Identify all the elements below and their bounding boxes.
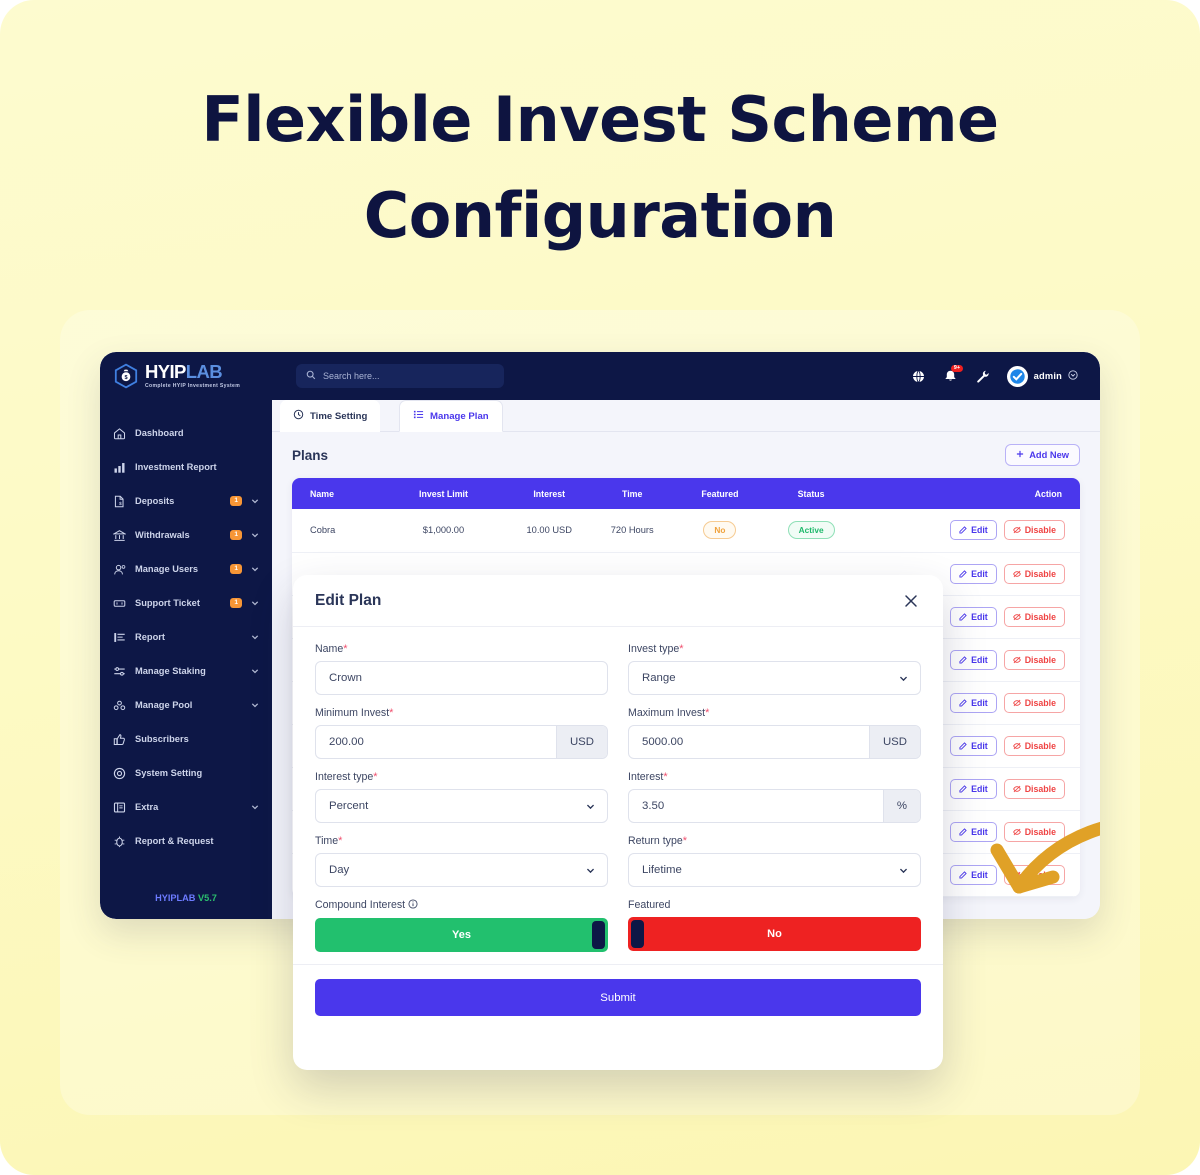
- edit-label: Edit: [971, 569, 988, 579]
- field-interest: Interest* 3.50 %: [628, 771, 921, 823]
- invest-type-select[interactable]: Range: [628, 661, 921, 695]
- sidebar-badge: 1: [230, 598, 242, 609]
- pencil-icon: [959, 828, 967, 836]
- field-label-text: Interest type: [315, 771, 373, 783]
- tab-label: Manage Plan: [430, 411, 489, 422]
- form-row-1: Name* Crown Invest type* Range: [315, 643, 921, 695]
- required-marker: *: [705, 707, 709, 719]
- sidebar-item-label: Report: [135, 632, 242, 642]
- field-label-text: Compound Interest: [315, 899, 405, 911]
- compound-interest-toggle[interactable]: Yes: [315, 918, 608, 952]
- edit-label: Edit: [971, 870, 988, 880]
- col-interest: Interest: [504, 478, 595, 509]
- required-marker: *: [683, 835, 687, 847]
- admin-name: admin: [1034, 371, 1062, 381]
- sidebar-item-label: Support Ticket: [135, 598, 221, 608]
- sliders-icon: [113, 665, 126, 678]
- disable-label: Disable: [1025, 525, 1056, 535]
- pencil-icon: [959, 742, 967, 750]
- invest-type-value: Range: [629, 672, 887, 684]
- sidebar-item-investment-report[interactable]: Investment Report: [100, 450, 272, 484]
- tab-bar: Time Setting Manage Plan: [272, 400, 1100, 432]
- eye-slash-icon: [1013, 828, 1021, 836]
- chevron-down-icon: [574, 802, 607, 811]
- col-name: Name: [292, 478, 383, 509]
- edit-button[interactable]: Edit: [950, 564, 997, 584]
- disable-label: Disable: [1025, 741, 1056, 751]
- required-marker: *: [373, 771, 377, 783]
- disable-label: Disable: [1025, 870, 1056, 880]
- chevron-down-icon: [887, 866, 920, 875]
- required-marker: *: [389, 707, 393, 719]
- sidebar-item-withdrawals[interactable]: Withdrawals 1: [100, 518, 272, 552]
- sidebar-version: HYIPLAB V5.7: [100, 893, 272, 903]
- field-featured: Featured No: [628, 899, 921, 952]
- add-new-button[interactable]: Add New: [1005, 444, 1080, 466]
- field-label: Time*: [315, 835, 608, 847]
- sidebar-item-label: Report & Request: [135, 836, 259, 846]
- edit-label: Edit: [971, 612, 988, 622]
- sidebar-item-support-ticket[interactable]: Support Ticket 1: [100, 586, 272, 620]
- sidebar-item-manage-users[interactable]: Manage Users 1: [100, 552, 272, 586]
- sidebar-item-report-and-request[interactable]: Report & Request: [100, 824, 272, 858]
- featured-toggle[interactable]: No: [628, 917, 921, 951]
- time-value: Day: [316, 864, 574, 876]
- edit-button[interactable]: Edit: [950, 520, 997, 540]
- chevron-down-icon: [251, 565, 259, 573]
- page-title-line-1: Flexible Invest Scheme: [201, 83, 998, 156]
- disable-button[interactable]: Disable: [1004, 693, 1065, 713]
- tab-time-setting[interactable]: Time Setting: [280, 400, 380, 432]
- cell-time: 720 Hours: [595, 509, 670, 552]
- field-label-text: Featured: [628, 899, 670, 911]
- minimum-invest-unit: USD: [556, 726, 607, 758]
- list-icon: [413, 409, 424, 423]
- sidebar-item-label: Manage Pool: [135, 700, 242, 710]
- edit-button[interactable]: Edit: [950, 693, 997, 713]
- file-dollar-icon: $: [113, 495, 126, 508]
- edit-button[interactable]: Edit: [950, 650, 997, 670]
- disable-label: Disable: [1025, 827, 1056, 837]
- wrench-icon[interactable]: [975, 369, 990, 384]
- modal-footer: Submit: [293, 964, 943, 1036]
- return-type-value: Lifetime: [629, 864, 887, 876]
- row-actions: EditDisable: [950, 822, 1065, 842]
- tab-manage-plan[interactable]: Manage Plan: [399, 400, 503, 432]
- toggle-knob: [631, 920, 644, 948]
- home-icon: [113, 427, 126, 440]
- field-interest-type: Interest type* Percent: [315, 771, 608, 823]
- section-header: Plans Add New: [272, 432, 1100, 478]
- field-label-text: Maximum Invest: [628, 707, 705, 719]
- field-name: Name* Crown: [315, 643, 608, 695]
- topbar-icons: 9+ admin: [911, 366, 1078, 387]
- sidebar-item-label: Manage Staking: [135, 666, 242, 676]
- search-icon: [306, 370, 316, 382]
- field-label: Featured: [628, 899, 921, 911]
- required-marker: *: [663, 771, 667, 783]
- sidebar-item-report[interactable]: Report: [100, 620, 272, 654]
- topbar: Search here... 9+ admin: [272, 352, 1100, 400]
- field-label: Minimum Invest*: [315, 707, 608, 719]
- form-row-3: Interest type* Percent Interest* 3.50 %: [315, 771, 921, 823]
- col-invest-limit: Invest Limit: [383, 478, 504, 509]
- close-icon[interactable]: [901, 591, 921, 611]
- edit-label: Edit: [971, 655, 988, 665]
- disable-button[interactable]: Disable: [1004, 822, 1065, 842]
- version-name: HYIPLAB: [155, 893, 195, 903]
- form-row-4: Time* Day Return type* Lifetime: [315, 835, 921, 887]
- sidebar-item-label: Deposits: [135, 496, 221, 506]
- bug-icon: [113, 835, 126, 848]
- chevron-down-icon: [887, 674, 920, 683]
- minimum-invest-value: 200.00: [316, 736, 556, 748]
- sidebar-item-label: Withdrawals: [135, 530, 221, 540]
- sidebar-badge: 1: [230, 530, 242, 541]
- eye-slash-icon: [1013, 570, 1021, 578]
- pencil-icon: [959, 699, 967, 707]
- featured-value: No: [767, 928, 782, 940]
- eye-slash-icon: [1013, 785, 1021, 793]
- globe-icon[interactable]: [911, 369, 926, 384]
- disable-button[interactable]: Disable: [1004, 607, 1065, 627]
- disable-button[interactable]: Disable: [1004, 779, 1065, 799]
- clock-icon: [293, 409, 304, 423]
- field-label: Return type*: [628, 835, 921, 847]
- list-check-icon: [113, 631, 126, 644]
- edit-label: Edit: [971, 784, 988, 794]
- field-label-text: Interest: [628, 771, 663, 783]
- row-actions: EditDisable: [950, 736, 1065, 756]
- sidebar-item-manage-staking[interactable]: Manage Staking: [100, 654, 272, 688]
- book-icon: [113, 801, 126, 814]
- pencil-icon: [959, 656, 967, 664]
- row-actions: EditDisable: [950, 779, 1065, 799]
- page-title: Flexible Invest Scheme Configuration: [0, 72, 1200, 264]
- field-time: Time* Day: [315, 835, 608, 887]
- sidebar: $ HYIPLAB Complete HYIP Investment Syste…: [100, 352, 272, 919]
- featured-badge: No: [703, 521, 736, 539]
- name-input-value: Crown: [316, 672, 607, 684]
- table-row: Cobra$1,000.0010.00 USD720 HoursNoActive…: [292, 509, 1080, 552]
- add-new-label: Add New: [1029, 450, 1069, 460]
- col-action: Action: [852, 478, 1080, 509]
- toggle-knob: [592, 921, 605, 949]
- eye-slash-icon: [1013, 871, 1021, 879]
- interest-input[interactable]: 3.50 %: [628, 789, 921, 823]
- svg-text:$: $: [119, 500, 122, 505]
- row-actions: EditDisable: [950, 564, 1065, 584]
- chevron-down-icon: [251, 667, 259, 675]
- check-circle-avatar-icon: [1007, 366, 1028, 387]
- field-label: Maximum Invest*: [628, 707, 921, 719]
- edit-plan-modal: Edit Plan Name* Crown Invest type* Range: [293, 575, 943, 1070]
- cell-interest: 10.00 USD: [504, 509, 595, 552]
- disable-button[interactable]: Disable: [1004, 564, 1065, 584]
- interest-unit: %: [883, 790, 920, 822]
- edit-button[interactable]: Edit: [950, 779, 997, 799]
- field-label: Name*: [315, 643, 608, 655]
- bell-icon[interactable]: 9+: [943, 369, 958, 384]
- col-status: Status: [770, 478, 852, 509]
- eye-slash-icon: [1013, 526, 1021, 534]
- pencil-icon: [959, 785, 967, 793]
- sidebar-item-label: Manage Users: [135, 564, 221, 574]
- tab-label: Time Setting: [310, 411, 367, 422]
- minimum-invest-input[interactable]: 200.00 USD: [315, 725, 608, 759]
- sidebar-item-label: System Setting: [135, 768, 259, 778]
- sidebar-item-manage-pool[interactable]: Manage Pool: [100, 688, 272, 722]
- section-title: Plans: [292, 448, 328, 463]
- bank-icon: [113, 529, 126, 542]
- interest-value: 3.50: [629, 800, 883, 812]
- sidebar-item-extra[interactable]: Extra: [100, 790, 272, 824]
- table-head: Name Invest Limit Interest Time Featured…: [292, 478, 1080, 509]
- bar-chart-icon: [113, 461, 126, 474]
- brand-word-2: LAB: [186, 361, 222, 382]
- sidebar-item-label: Extra: [135, 802, 242, 812]
- edit-label: Edit: [971, 525, 988, 535]
- edit-label: Edit: [971, 698, 988, 708]
- page-title-line-2: Configuration: [0, 168, 1200, 264]
- table-header-row: Name Invest Limit Interest Time Featured…: [292, 478, 1080, 509]
- eye-slash-icon: [1013, 742, 1021, 750]
- pencil-icon: [959, 526, 967, 534]
- row-actions: EditDisable: [950, 520, 1065, 540]
- pencil-icon: [959, 613, 967, 621]
- cell-action: EditDisable: [852, 509, 1080, 552]
- compound-interest-value: Yes: [452, 929, 471, 941]
- poster-background: Flexible Invest Scheme Configuration $ H…: [0, 0, 1200, 1175]
- disable-button[interactable]: Disable: [1004, 865, 1065, 885]
- sidebar-nav: Dashboard Investment Report $ Deposits 1: [100, 416, 272, 858]
- form-row-2: Minimum Invest* 200.00 USD Maximum Inves…: [315, 707, 921, 759]
- disable-label: Disable: [1025, 698, 1056, 708]
- field-invest-type: Invest type* Range: [628, 643, 921, 695]
- cell-featured: No: [670, 509, 770, 552]
- name-input[interactable]: Crown: [315, 661, 608, 695]
- disable-label: Disable: [1025, 612, 1056, 622]
- chevron-down-icon: [251, 497, 259, 505]
- disable-label: Disable: [1025, 784, 1056, 794]
- brand-logo[interactable]: $ HYIPLAB Complete HYIP Investment Syste…: [100, 352, 272, 400]
- chevron-down-circle-icon: [1068, 367, 1078, 385]
- required-marker: *: [343, 643, 347, 655]
- submit-button[interactable]: Submit: [315, 979, 921, 1016]
- users-gear-icon: [113, 563, 126, 576]
- sidebar-item-label: Subscribers: [135, 734, 259, 744]
- notification-badge: 9+: [951, 365, 962, 373]
- disable-label: Disable: [1025, 569, 1056, 579]
- disable-button[interactable]: Disable: [1004, 650, 1065, 670]
- disable-button[interactable]: Disable: [1004, 736, 1065, 756]
- version-number: V5.7: [198, 893, 217, 903]
- edit-button[interactable]: Edit: [950, 822, 997, 842]
- modal-title: Edit Plan: [315, 592, 381, 610]
- status-badge: Active: [788, 521, 835, 539]
- edit-label: Edit: [971, 827, 988, 837]
- thumbs-up-icon: [113, 733, 126, 746]
- field-label: Compound Interest: [315, 899, 608, 912]
- pencil-icon: [959, 871, 967, 879]
- col-time: Time: [595, 478, 670, 509]
- time-select[interactable]: Day: [315, 853, 608, 887]
- money-bag-hexagon-icon: $: [113, 363, 139, 389]
- edit-button[interactable]: Edit: [950, 736, 997, 756]
- form-row-5: Compound Interest Yes Featured No: [315, 899, 921, 952]
- disable-button[interactable]: Disable: [1004, 520, 1065, 540]
- row-actions: EditDisable: [950, 693, 1065, 713]
- eye-slash-icon: [1013, 613, 1021, 621]
- search-input[interactable]: Search here...: [296, 364, 504, 388]
- sidebar-item-deposits[interactable]: $ Deposits 1: [100, 484, 272, 518]
- eye-slash-icon: [1013, 699, 1021, 707]
- field-label-text: Invest type: [628, 643, 679, 655]
- row-actions: EditDisable: [950, 650, 1065, 670]
- interest-type-select[interactable]: Percent: [315, 789, 608, 823]
- maximum-invest-unit: USD: [869, 726, 920, 758]
- ticket-icon: [113, 597, 126, 610]
- field-maximum-invest: Maximum Invest* 5000.00 USD: [628, 707, 921, 759]
- gear-circle-icon: [113, 767, 126, 780]
- modal-body: Name* Crown Invest type* Range Minimum I…: [293, 627, 943, 952]
- row-actions: EditDisable: [950, 607, 1065, 627]
- cell-invest-limit: $1,000.00: [383, 509, 504, 552]
- search-placeholder: Search here...: [323, 371, 380, 381]
- eye-slash-icon: [1013, 656, 1021, 664]
- chevron-down-icon: [574, 866, 607, 875]
- chevron-down-icon: [251, 599, 259, 607]
- sidebar-badge: 1: [230, 564, 242, 575]
- required-marker: *: [679, 643, 683, 655]
- field-return-type: Return type* Lifetime: [628, 835, 921, 887]
- col-featured: Featured: [670, 478, 770, 509]
- edit-button[interactable]: Edit: [950, 607, 997, 627]
- maximum-invest-value: 5000.00: [629, 736, 869, 748]
- maximum-invest-input[interactable]: 5000.00 USD: [628, 725, 921, 759]
- plus-icon: [1016, 450, 1024, 460]
- brand-tagline: Complete HYIP Investment System: [145, 383, 240, 389]
- interest-type-value: Percent: [316, 800, 574, 812]
- sidebar-item-label: Investment Report: [135, 462, 259, 472]
- field-label-text: Time: [315, 835, 338, 847]
- modal-header: Edit Plan: [293, 575, 943, 627]
- chevron-down-icon: [251, 633, 259, 641]
- row-actions: EditDisable: [950, 865, 1065, 885]
- sidebar-item-label: Dashboard: [135, 428, 259, 438]
- brand-word-1: HYIP: [145, 361, 186, 382]
- chevron-down-icon: [251, 803, 259, 811]
- field-label-text: Name: [315, 643, 343, 655]
- field-label-text: Minimum Invest: [315, 707, 389, 719]
- chevron-down-icon: [251, 531, 259, 539]
- field-minimum-invest: Minimum Invest* 200.00 USD: [315, 707, 608, 759]
- info-icon[interactable]: [408, 899, 418, 912]
- sidebar-item-subscribers[interactable]: Subscribers: [100, 722, 272, 756]
- field-label: Interest*: [628, 771, 921, 783]
- chevron-down-icon: [251, 701, 259, 709]
- pool-icon: [113, 699, 126, 712]
- cell-name: Cobra: [292, 509, 383, 552]
- field-label: Invest type*: [628, 643, 921, 655]
- edit-label: Edit: [971, 741, 988, 751]
- return-type-select[interactable]: Lifetime: [628, 853, 921, 887]
- field-compound-interest: Compound Interest Yes: [315, 899, 608, 952]
- admin-menu[interactable]: admin: [1007, 366, 1078, 387]
- sidebar-item-system-setting[interactable]: System Setting: [100, 756, 272, 790]
- sidebar-item-dashboard[interactable]: Dashboard: [100, 416, 272, 450]
- cell-status: Active: [770, 509, 852, 552]
- edit-button[interactable]: Edit: [950, 865, 997, 885]
- required-marker: *: [338, 835, 342, 847]
- field-label-text: Return type: [628, 835, 683, 847]
- pencil-icon: [959, 570, 967, 578]
- field-label: Interest type*: [315, 771, 608, 783]
- sidebar-badge: 1: [230, 496, 242, 507]
- disable-label: Disable: [1025, 655, 1056, 665]
